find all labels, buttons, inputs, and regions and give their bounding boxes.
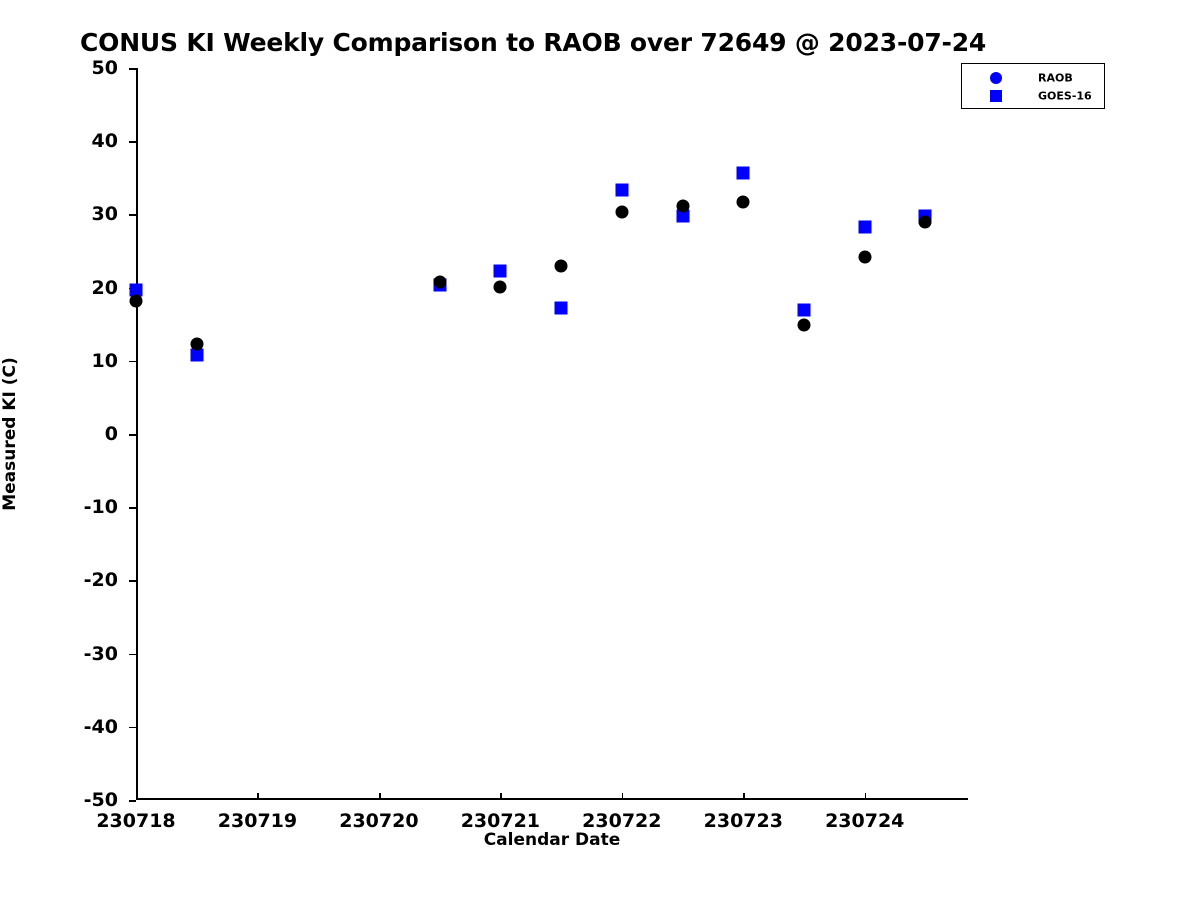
x-tick: 230720 [379, 793, 381, 800]
circle-marker-icon [990, 72, 1002, 84]
y-tick-label: 40 [92, 130, 118, 152]
y-tick-label: -40 [84, 716, 118, 738]
x-tick: 230721 [500, 793, 502, 800]
y-tick-label: -30 [84, 643, 118, 665]
y-tick: -10 [129, 507, 136, 509]
data-point-raob [737, 195, 750, 208]
data-point-raob [555, 259, 568, 272]
legend-label: RAOB [1038, 72, 1073, 85]
y-tick: -20 [129, 580, 136, 582]
x-tick-label: 230718 [96, 810, 175, 832]
x-axis-line [136, 798, 968, 800]
y-tick-label: -20 [84, 569, 118, 591]
y-tick-label: -10 [84, 496, 118, 518]
y-tick-label: 0 [105, 423, 118, 445]
data-point-raob [919, 215, 932, 228]
x-tick-label: 230721 [461, 810, 540, 832]
y-axis-label: Measured KI (C) [0, 68, 26, 800]
x-tick: 230719 [257, 793, 259, 800]
y-tick-label: 30 [92, 203, 118, 225]
data-point-raob [190, 337, 203, 350]
y-tick: 30 [129, 214, 136, 216]
x-tick: 230722 [622, 793, 624, 800]
y-tick-label: 50 [92, 57, 118, 79]
data-point-raob [615, 206, 628, 219]
page-title: CONUS KI Weekly Comparison to RAOB over … [80, 28, 986, 57]
data-point-raob [676, 200, 689, 213]
legend: RAOBGOES-16 [961, 63, 1105, 109]
data-point-goes-16 [615, 183, 628, 196]
legend-item-goes-16[interactable]: GOES-16 [962, 86, 1104, 106]
y-tick: -40 [129, 727, 136, 729]
y-tick-label: 10 [92, 350, 118, 372]
x-tick-label: 230723 [704, 810, 783, 832]
x-axis-label: Calendar Date [136, 830, 968, 850]
data-point-raob [130, 294, 143, 307]
square-marker-icon [990, 90, 1002, 102]
x-tick: 230723 [743, 793, 745, 800]
y-tick: 0 [129, 434, 136, 436]
data-point-raob [858, 250, 871, 263]
legend-label: GOES-16 [1038, 90, 1092, 103]
x-tick: 230724 [865, 793, 867, 800]
legend-item-raob[interactable]: RAOB [962, 68, 1104, 88]
data-point-goes-16 [494, 265, 507, 278]
y-tick: 10 [129, 361, 136, 363]
data-point-goes-16 [555, 302, 568, 315]
data-point-goes-16 [798, 303, 811, 316]
y-axis-line [136, 68, 138, 800]
y-tick: 50 [129, 68, 136, 70]
data-point-raob [494, 280, 507, 293]
plot-area: 50403020100-10-20-30-40-50 2307182307192… [136, 68, 968, 800]
chart-page: CONUS KI Weekly Comparison to RAOB over … [0, 0, 1200, 900]
data-point-goes-16 [858, 220, 871, 233]
x-tick-label: 230720 [339, 810, 418, 832]
x-tick: 230718 [136, 793, 138, 800]
x-tick-label: 230719 [218, 810, 297, 832]
y-tick: -30 [129, 654, 136, 656]
y-tick: 40 [129, 141, 136, 143]
x-tick-label: 230722 [582, 810, 661, 832]
y-tick: -50 [129, 800, 136, 802]
data-point-raob [433, 275, 446, 288]
y-tick-label: -50 [84, 789, 118, 811]
y-tick-label: 20 [92, 277, 118, 299]
data-point-raob [798, 318, 811, 331]
x-tick-label: 230724 [825, 810, 904, 832]
data-point-goes-16 [737, 166, 750, 179]
